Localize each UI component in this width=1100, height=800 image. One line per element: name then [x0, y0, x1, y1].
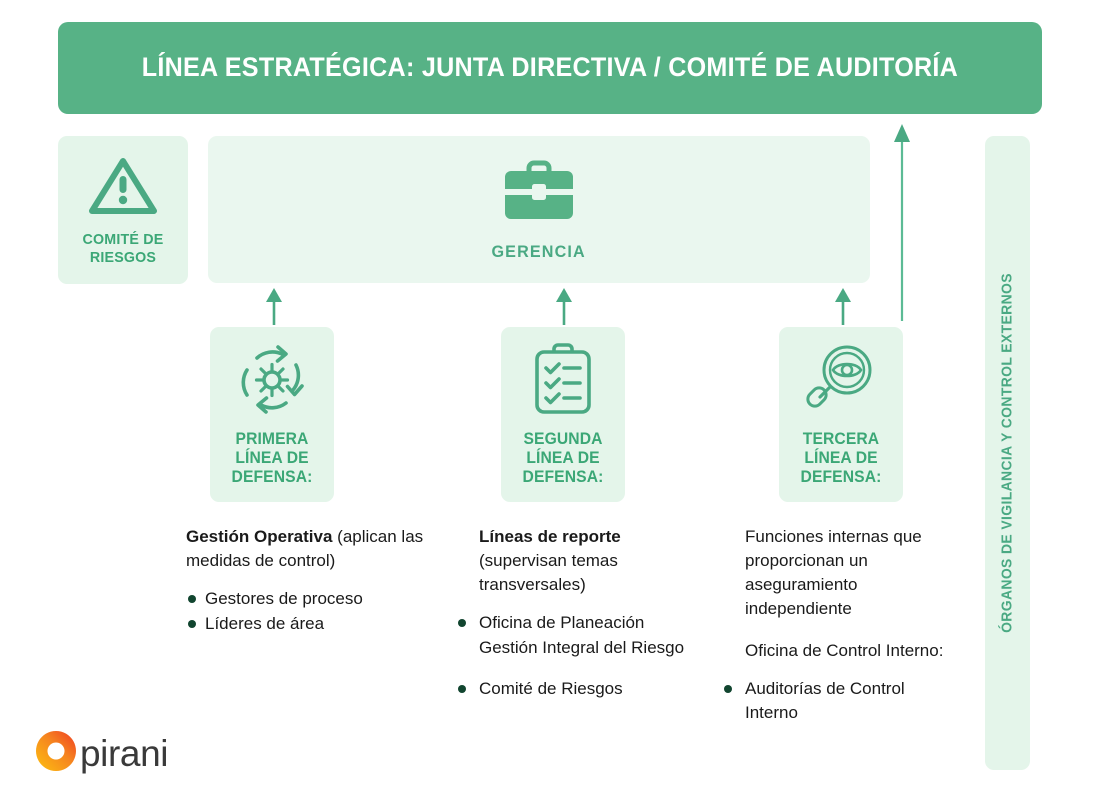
pirani-logo: pirani — [34, 729, 168, 778]
card-gerencia: GERENCIA — [208, 136, 870, 283]
list-item: Comité de Riesgos — [455, 677, 689, 701]
card-comite-de-riesgos: COMITÉ DE RIESGOS — [58, 136, 188, 284]
column2-list: Oficina de Planeación Gestión Integral d… — [455, 611, 689, 700]
column-tercera-linea-details: Funciones internas que proporcionan un a… — [745, 525, 960, 726]
card-segunda-linea-label: SEGUNDA LÍNEA DE DEFENSA: — [504, 430, 622, 487]
clipboard-check-icon — [530, 343, 596, 422]
list-item: Gestores de proceso — [186, 587, 434, 611]
list-item: Auditorías de Control Interno — [721, 677, 960, 725]
list-item: Líderes de área — [186, 612, 434, 636]
card-segunda-linea-de-defensa: SEGUNDA LÍNEA DE DEFENSA: — [501, 327, 625, 502]
column3-heading-rest: Funciones internas que proporcionan un a… — [745, 527, 922, 618]
column3-list: Auditorías de Control Interno — [721, 677, 960, 725]
arrow-up-tercera — [827, 286, 859, 326]
list-item: Oficina de Planeación Gestión Integral d… — [455, 611, 689, 659]
header-title: LÍNEA ESTRATÉGICA: JUNTA DIRECTIVA / COM… — [142, 51, 958, 85]
card-comite-de-riesgos-label: COMITÉ DE RIESGOS — [61, 231, 185, 267]
gear-cycle-icon — [233, 343, 311, 422]
card-tercera-linea-de-defensa: TERCERA LÍNEA DE DEFENSA: — [779, 327, 903, 502]
arrow-up-segunda — [548, 286, 580, 326]
column2-heading-rest: (supervisan temas transversales) — [479, 551, 618, 594]
column3-heading: Funciones internas que proporcionan un a… — [745, 525, 960, 622]
magnifier-eye-icon — [803, 343, 879, 422]
card-gerencia-label: GERENCIA — [492, 242, 586, 262]
pirani-logo-mark-icon — [34, 729, 78, 778]
right-band-organos-externos: ÓRGANOS DE VIGILANCIA Y CONTROL EXTERNOS — [985, 136, 1030, 770]
warning-triangle-icon — [87, 154, 159, 223]
arrow-up-primera — [258, 286, 290, 326]
card-tercera-linea-label: TERCERA LÍNEA DE DEFENSA: — [782, 430, 900, 487]
arrow-up-external-oversight — [888, 122, 916, 322]
diagram-canvas: LÍNEA ESTRATÉGICA: JUNTA DIRECTIVA / COM… — [0, 0, 1100, 800]
right-band-label: ÓRGANOS DE VIGILANCIA Y CONTROL EXTERNOS — [1000, 273, 1016, 633]
card-primera-linea-label: PRIMERA LÍNEA DE DEFENSA: — [213, 430, 331, 487]
column1-heading: Gestión Operativa (aplican las medidas d… — [186, 525, 434, 573]
column2-heading: Líneas de reporte (supervisan temas tran… — [479, 525, 689, 597]
column-segunda-linea-details: Líneas de reporte (supervisan temas tran… — [479, 525, 689, 702]
column2-heading-bold: Líneas de reporte — [479, 527, 621, 546]
column1-list: Gestores de proceso Líderes de área — [186, 587, 434, 636]
header-banner: LÍNEA ESTRATÉGICA: JUNTA DIRECTIVA / COM… — [58, 22, 1042, 114]
card-primera-linea-de-defensa: PRIMERA LÍNEA DE DEFENSA: — [210, 327, 334, 502]
pirani-logo-wordmark: pirani — [80, 735, 168, 772]
column3-subheading: Oficina de Control Interno: — [745, 639, 960, 663]
column-primera-linea-details: Gestión Operativa (aplican las medidas d… — [186, 525, 434, 638]
column1-heading-bold: Gestión Operativa — [186, 527, 332, 546]
briefcase-icon — [499, 157, 579, 232]
